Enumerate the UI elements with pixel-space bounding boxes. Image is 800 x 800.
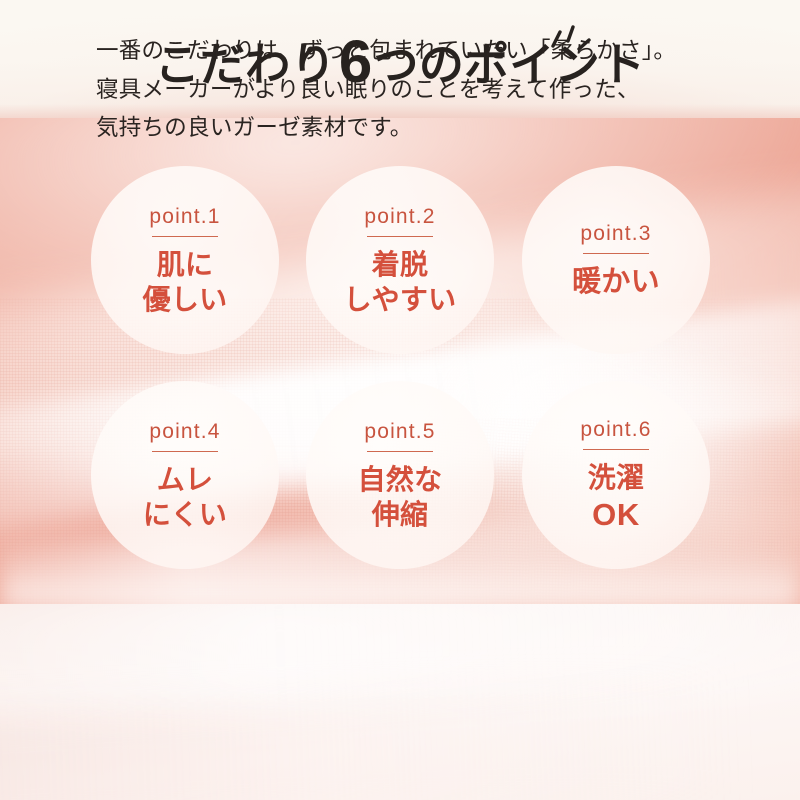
point-divider [583, 449, 649, 450]
point-text-line: 暖かい [572, 265, 660, 301]
point-text-line: しやすい [344, 283, 457, 318]
point-text-line: 洗濯 [588, 461, 645, 496]
point-label: point.3 [580, 223, 651, 244]
point-text-line: 着脱 [344, 248, 457, 283]
point-text: 肌に 優しい [143, 248, 228, 317]
point-text: ムレ にくい [143, 463, 227, 532]
body-copy-line: 寝具メーカーがより良い眠りのことを考えて作った、 [96, 71, 736, 110]
point-text-line: 自然な [358, 463, 443, 498]
infographic-panel: こだわり 6 つのポイント point.1 肌に [0, 0, 800, 800]
point-text-line: ムレ [143, 463, 227, 498]
point-text: 自然な 伸縮 [358, 463, 443, 532]
point-circle-3[interactable]: point.3 暖かい [522, 166, 710, 354]
point-label: point.4 [149, 421, 220, 442]
body-copy-line: 一番のこだわりは、ずっと包まれていたい「柔らかさ」。 [96, 32, 736, 71]
point-text: 暖かい [572, 265, 660, 301]
point-divider [367, 236, 433, 237]
point-text-line: 優しい [143, 283, 228, 318]
point-text-line: 伸縮 [358, 498, 443, 533]
body-copy: 一番のこだわりは、ずっと包まれていたい「柔らかさ」。 寝具メーカーがより良い眠り… [96, 32, 736, 148]
point-divider [367, 451, 433, 452]
point-circle-6[interactable]: point.6 洗濯 OK [522, 381, 710, 569]
point-divider [583, 253, 649, 254]
point-label: point.5 [364, 421, 435, 442]
point-text: 洗濯 OK [588, 461, 645, 534]
point-text-line: 肌に [143, 248, 228, 283]
point-label: point.6 [580, 419, 651, 440]
point-text: 着脱 しやすい [344, 248, 457, 317]
point-circle-2[interactable]: point.2 着脱 しやすい [306, 166, 494, 354]
point-circle-5[interactable]: point.5 自然な 伸縮 [306, 381, 494, 569]
point-circle-1[interactable]: point.1 肌に 優しい [91, 166, 279, 354]
point-divider [152, 451, 218, 452]
point-circle-4[interactable]: point.4 ムレ にくい [91, 381, 279, 569]
bottom-background [0, 604, 800, 800]
point-divider [152, 236, 218, 237]
body-copy-line: 気持ちの良いガーゼ素材です。 [96, 109, 736, 148]
point-label: point.2 [364, 206, 435, 227]
point-text-line: にくい [143, 498, 227, 533]
point-label: point.1 [149, 206, 220, 227]
point-text-line: OK [588, 496, 645, 534]
